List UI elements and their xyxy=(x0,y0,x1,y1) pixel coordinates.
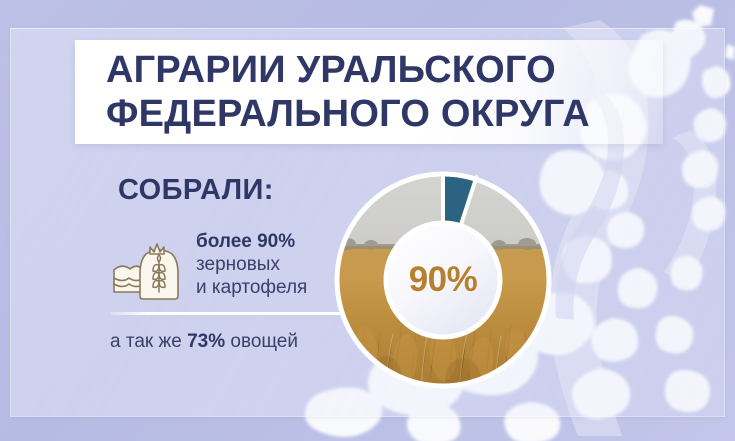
page-title-line-1: АГРАРИИ УРАЛЬСКОГО xyxy=(106,48,663,92)
harvest-fact-strong: более 90% xyxy=(196,230,307,253)
vegetables-footnote: а так же 73% овощей xyxy=(110,330,298,353)
donut-center-value: 90% xyxy=(331,168,555,392)
title-panel: АГРАРИИ УРАЛЬСКОГО ФЕДЕРАЛЬНОГО ОКРУГА xyxy=(75,40,663,144)
harvest-donut-chart: 90% xyxy=(331,168,555,392)
grain-sack-icon xyxy=(110,232,184,302)
page-title-line-2: ФЕДЕРАЛЬНОГО ОКРУГА xyxy=(106,92,663,136)
harvest-fact-line-3: и картофеля xyxy=(196,276,307,299)
harvest-fact-line-2: зерновых xyxy=(196,253,307,276)
harvest-fact-row: более 90% зерновых и картофеля xyxy=(110,228,345,302)
infographic-canvas: АГРАРИИ УРАЛЬСКОГО ФЕДЕРАЛЬНОГО ОКРУГА С… xyxy=(0,0,735,441)
collected-heading: СОБРАЛИ: xyxy=(118,174,274,207)
vegetables-footnote-value: 73% xyxy=(187,331,225,352)
vegetables-footnote-suffix: овощей xyxy=(225,331,298,352)
vegetables-footnote-prefix: а так же xyxy=(110,331,187,352)
harvest-fact-text: более 90% зерновых и картофеля xyxy=(196,228,307,299)
